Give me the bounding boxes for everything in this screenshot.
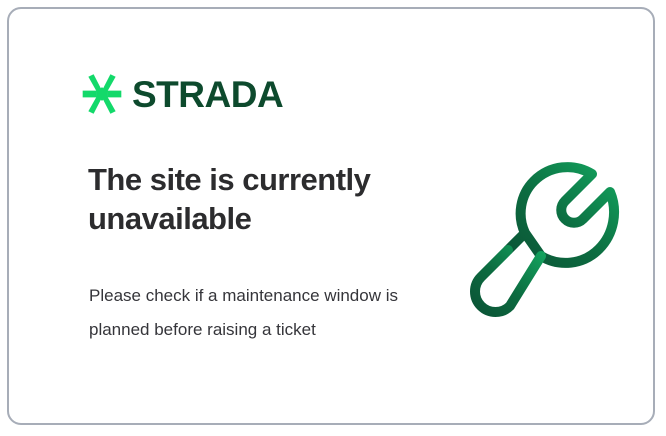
card-inner: STRADA The site is currently unavailable… xyxy=(9,9,653,423)
wrench-icon xyxy=(464,154,624,324)
page-description: Please check if a maintenance window is … xyxy=(89,279,409,347)
error-page: STRADA The site is currently unavailable… xyxy=(0,0,666,436)
status-card: STRADA The site is currently unavailable… xyxy=(7,7,655,425)
brand-lockup: STRADA xyxy=(81,73,283,115)
brand-wordmark: STRADA xyxy=(132,76,283,113)
strada-asterisk-icon xyxy=(81,73,123,115)
page-title: The site is currently unavailable xyxy=(88,161,428,239)
